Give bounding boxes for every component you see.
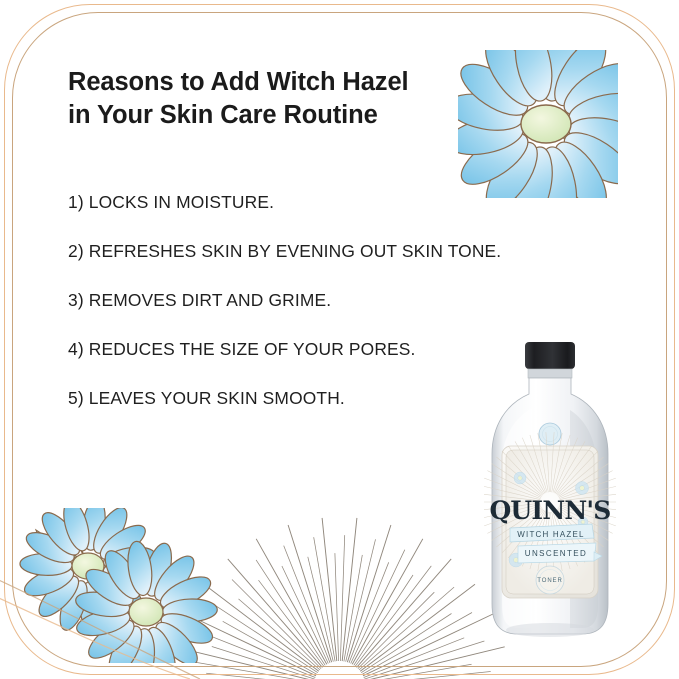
label-category: TONER xyxy=(537,578,562,584)
product-bottle-image: QUINN'S WITCH HAZEL UNSCENTED TONER xyxy=(484,342,616,644)
page-title-line-1: Reasons to Add Witch Hazel xyxy=(68,66,488,99)
daisy-flower-icon xyxy=(458,50,618,198)
brand-name: QUINN'S xyxy=(489,496,610,525)
product-label: QUINN'S WITCH HAZEL UNSCENTED TONER xyxy=(484,432,616,598)
daisy-pair-decoration xyxy=(18,508,228,663)
flower-center xyxy=(521,105,571,143)
bottle-cap xyxy=(525,342,575,369)
poster-canvas: Reasons to Add Witch Hazel in Your Skin … xyxy=(0,0,679,679)
page-title-line-2: in Your Skin Care Routine xyxy=(68,99,488,132)
list-item: 2) REFRESHES SKIN BY EVENING OUT SKIN TO… xyxy=(68,241,568,290)
list-item: 3) REMOVES DIRT AND GRIME. xyxy=(68,290,568,339)
label-ingredient: WITCH HAZEL xyxy=(517,530,584,539)
page-title: Reasons to Add Witch Hazel in Your Skin … xyxy=(68,66,488,131)
label-variant: UNSCENTED xyxy=(525,549,587,558)
list-item: 1) LOCKS IN MOISTURE. xyxy=(68,192,568,241)
